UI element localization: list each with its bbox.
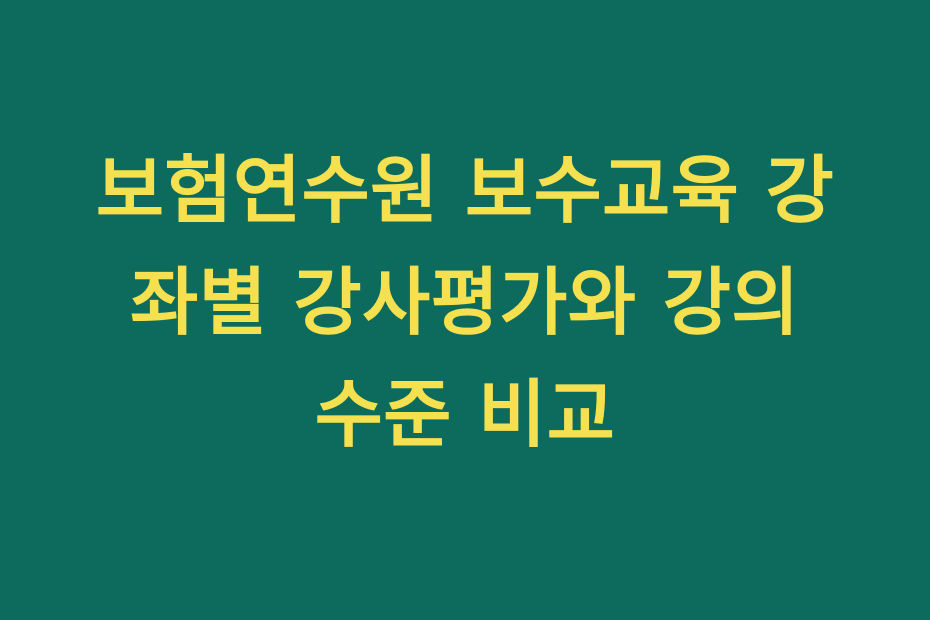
title-line-1: 보험연수원 보수교육 강 <box>96 135 834 247</box>
title-line-2: 좌별 강사평가와 강의 <box>130 247 800 359</box>
title-card: 보험연수원 보수교육 강 좌별 강사평가와 강의 수준 비교 <box>0 0 930 620</box>
title-text-block: 보험연수원 보수교육 강 좌별 강사평가와 강의 수준 비교 <box>45 135 885 471</box>
title-line-3: 수준 비교 <box>315 359 616 471</box>
